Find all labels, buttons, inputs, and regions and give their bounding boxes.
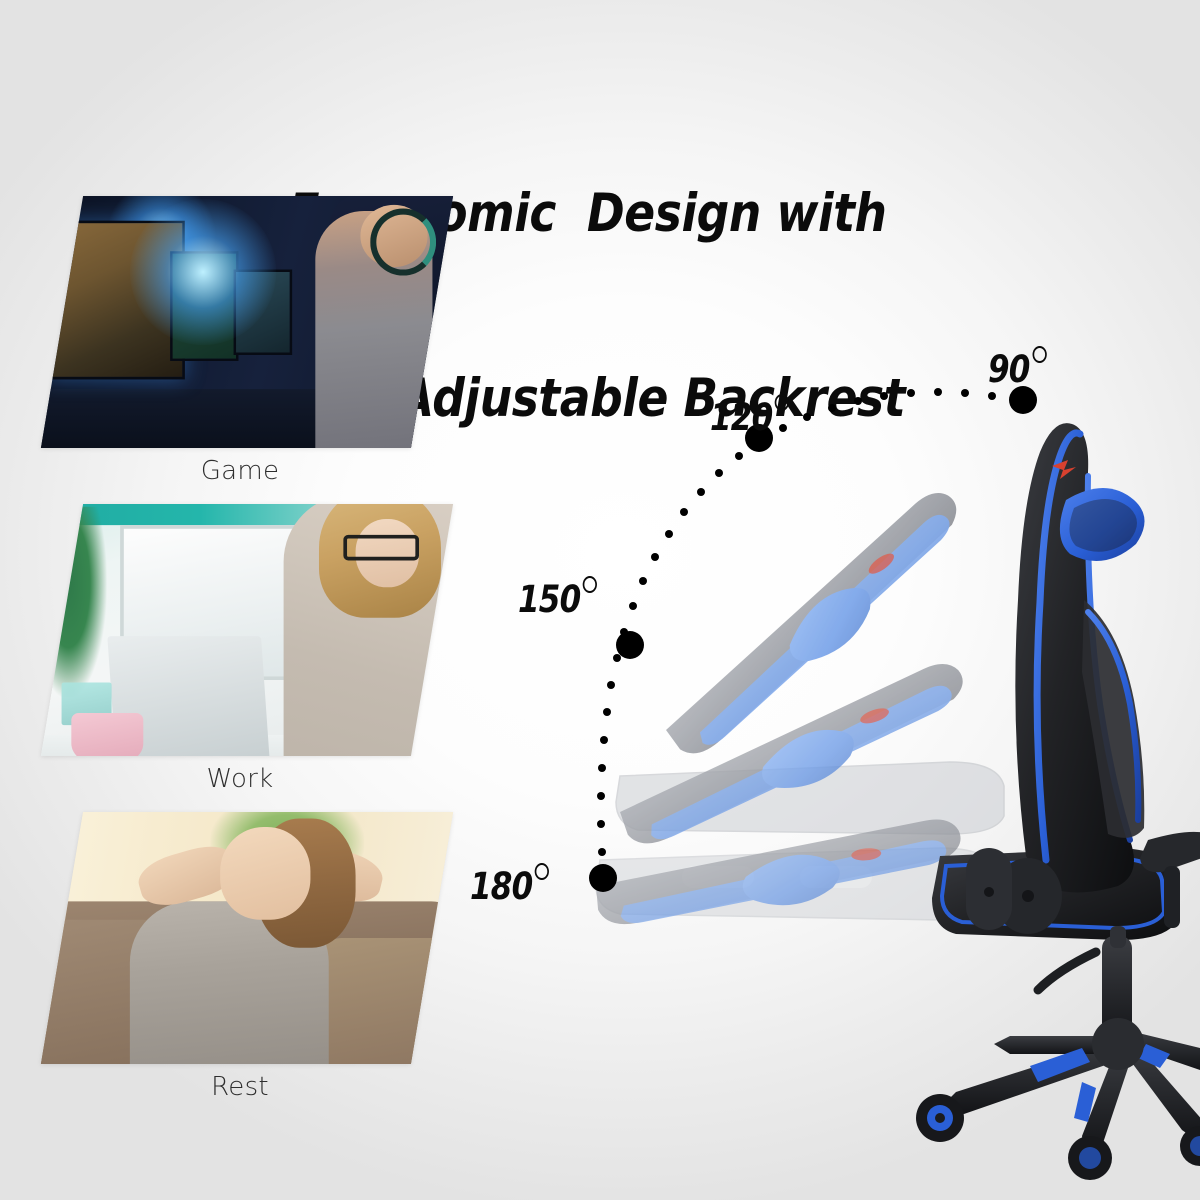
use-case-rest: Rest <box>0 812 480 1102</box>
recline-marker-180 <box>589 864 617 892</box>
use-case-game: Game <box>0 196 480 486</box>
product-feature-banner: Ergonomic Design with Adjustable Backres… <box>0 0 1200 1200</box>
use-case-photo-column: Game Work <box>0 196 480 1120</box>
work-caption: Work <box>0 764 480 794</box>
backrest-recline-angle-diagram: 90 120 150 180 <box>470 300 1200 1200</box>
work-photo-image <box>41 504 453 756</box>
angle-label-120: 120 <box>710 396 789 439</box>
use-case-work: Work <box>0 504 480 794</box>
work-photo-frame <box>41 504 453 756</box>
game-caption: Game <box>0 456 480 486</box>
angle-label-90: 90 <box>988 348 1046 391</box>
rest-caption: Rest <box>0 1072 480 1102</box>
chair-base-star <box>940 1018 1200 1154</box>
angle-label-150: 150 <box>518 578 597 621</box>
degree-icon <box>1032 346 1046 363</box>
degree-icon <box>775 394 789 411</box>
degree-icon <box>535 863 549 880</box>
angle-label-180: 180 <box>470 865 549 908</box>
recline-marker-150 <box>616 631 644 659</box>
degree-icon <box>583 576 597 593</box>
game-photo-frame <box>41 196 453 448</box>
game-photo-image <box>41 196 453 448</box>
rest-photo-image <box>41 812 453 1064</box>
rest-photo-frame <box>41 812 453 1064</box>
